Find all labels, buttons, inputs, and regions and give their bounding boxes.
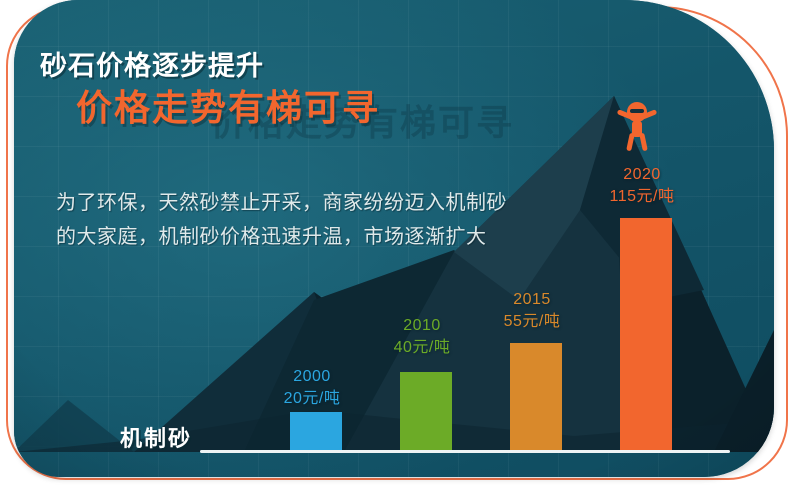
category-label: 机制砂 — [120, 421, 192, 453]
bar-2015 — [510, 343, 562, 450]
bar-chart: 机制砂 200020元/吨201040元/吨201555元/吨2020115元/… — [14, 0, 774, 477]
bar-year-2000: 2000 — [252, 366, 372, 388]
bar-2020 — [620, 218, 672, 450]
bar-label-2020: 2020115元/吨 — [582, 164, 702, 208]
bar-label-2010: 201040元/吨 — [362, 315, 482, 359]
bar-2010 — [400, 372, 452, 450]
bar-value-2000: 20元/吨 — [252, 388, 372, 410]
bar-label-2015: 201555元/吨 — [472, 289, 592, 333]
main-teal-panel: 价格走势有梯可寻 砂石价格逐步提升 价格走势有梯可寻 为了环保，天然砂禁止开采，… — [14, 0, 774, 477]
bar-value-2020: 115元/吨 — [582, 186, 702, 208]
chart-baseline-axis — [200, 450, 730, 453]
bar-label-2000: 200020元/吨 — [252, 366, 372, 410]
bar-value-2010: 40元/吨 — [362, 337, 482, 359]
bar-year-2020: 2020 — [582, 164, 702, 186]
bar-2000 — [290, 412, 342, 450]
infographic-stage: 价格走势有梯可寻 砂石价格逐步提升 价格走势有梯可寻 为了环保，天然砂禁止开采，… — [0, 0, 800, 490]
bar-year-2015: 2015 — [472, 289, 592, 311]
bar-year-2010: 2010 — [362, 315, 482, 337]
bar-value-2015: 55元/吨 — [472, 311, 592, 333]
climber-figure-icon — [614, 100, 660, 152]
